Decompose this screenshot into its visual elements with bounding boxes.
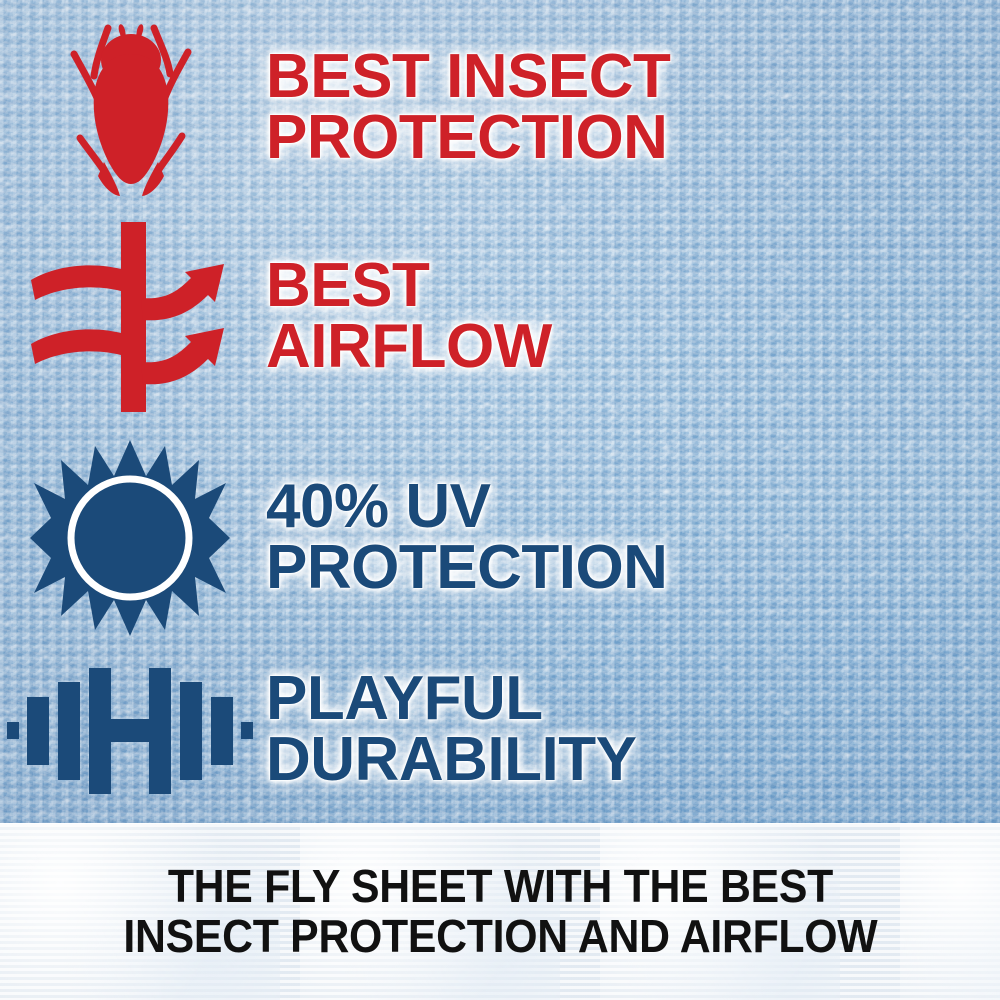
feature-icon-cell: [0, 222, 260, 412]
fly-icon: [50, 16, 210, 201]
dumbbell-icon: [7, 665, 253, 795]
caption-headline: THE FLY SHEET WITH THE BEST INSECT PROTE…: [123, 862, 877, 961]
feature-row-airflow: BEST AIRFLOW: [0, 222, 1000, 412]
feature-icon-cell: [0, 665, 260, 795]
feature-label-insect-protection: BEST INSECT PROTECTION: [266, 47, 670, 169]
feature-text-cell: 40% UV PROTECTION: [260, 477, 667, 599]
feature-text-cell: BEST AIRFLOW: [260, 256, 552, 378]
feature-icon-cell: [0, 16, 260, 201]
sun-uv-icon: [30, 440, 230, 636]
feature-row-durability: PLAYFUL DURABILITY: [0, 650, 1000, 810]
feature-row-insect-protection: BEST INSECT PROTECTION: [0, 8, 1000, 208]
caption-panel: THE FLY SHEET WITH THE BEST INSECT PROTE…: [0, 823, 1000, 1000]
feature-label-uv-protection: 40% UV PROTECTION: [266, 477, 667, 599]
feature-label-airflow: BEST AIRFLOW: [266, 256, 552, 378]
feature-icon-cell: [0, 440, 260, 636]
airflow-arrows-icon: [25, 222, 235, 412]
feature-text-cell: BEST INSECT PROTECTION: [260, 47, 670, 169]
feature-text-cell: PLAYFUL DURABILITY: [260, 669, 636, 791]
feature-label-durability: PLAYFUL DURABILITY: [266, 669, 636, 791]
product-feature-poster: BEST INSECT PROTECTION BEST AIRFLOW: [0, 0, 1000, 1000]
feature-row-uv-protection: 40% UV PROTECTION: [0, 438, 1000, 638]
